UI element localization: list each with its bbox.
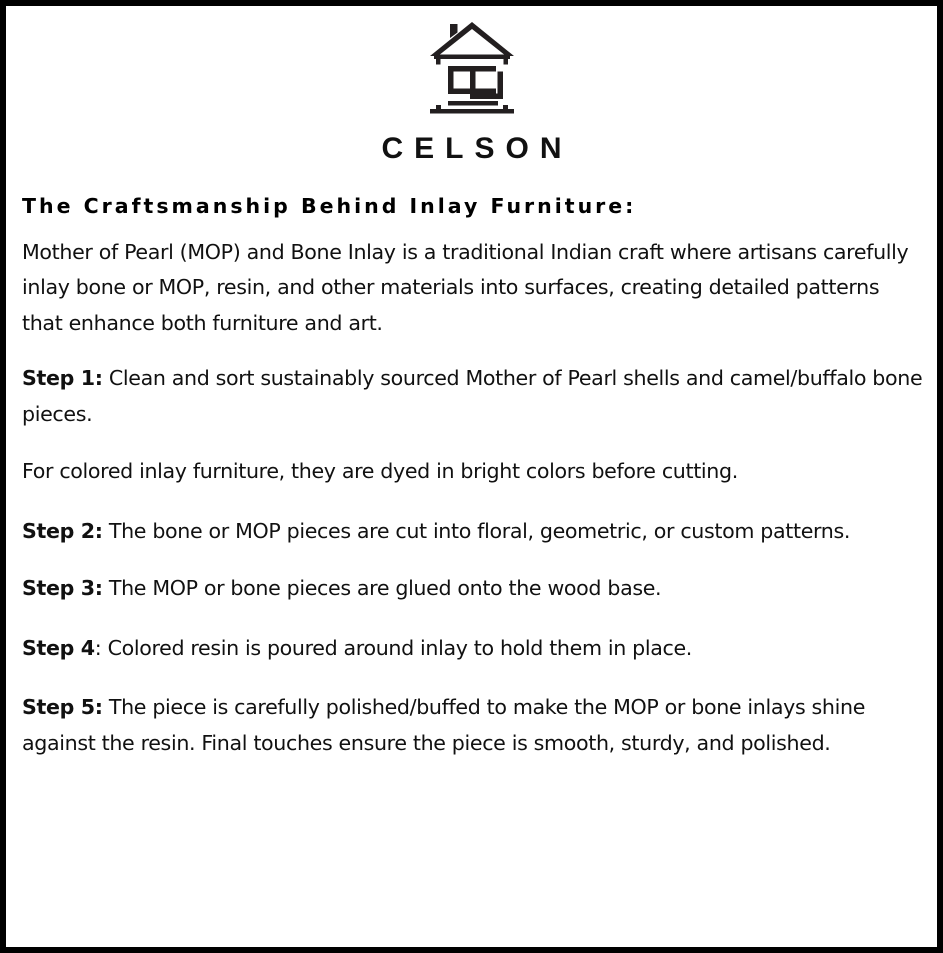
step-1-label: Step 1: (22, 366, 103, 390)
page-title: The Craftsmanship Behind Inlay Furniture… (22, 194, 927, 219)
step-2-label: Step 2: (22, 519, 103, 543)
paragraph-step-2: Step 2: The bone or MOP pieces are cut i… (22, 514, 925, 550)
step-3-label: Step 3: (22, 576, 103, 600)
step-5-text: The piece is carefully polished/buffed t… (22, 695, 865, 755)
step-4-text: : Colored resin is poured around inlay t… (95, 636, 692, 660)
paragraph-step-1: Step 1: Clean and sort sustainably sourc… (22, 361, 925, 432)
paragraph-step-3: Step 3: The MOP or bone pieces are glued… (22, 571, 925, 607)
step-3-text: The MOP or bone pieces are glued onto th… (103, 576, 662, 600)
poster-card: CELSON The Craftsmanship Behind Inlay Fu… (0, 0, 943, 953)
paragraph-intro: Mother of Pearl (MOP) and Bone Inlay is … (22, 235, 925, 342)
brand-wordmark: CELSON (16, 134, 927, 164)
paragraph-step-5: Step 5: The piece is carefully polished/… (22, 690, 925, 761)
article-body: Mother of Pearl (MOP) and Bone Inlay is … (22, 235, 925, 762)
step-5-label: Step 5: (22, 695, 103, 719)
house-monogram-logo-icon (426, 16, 518, 120)
paragraph-colored-note: For colored inlay furniture, they are dy… (22, 454, 925, 490)
step-4-label: Step 4 (22, 636, 95, 660)
brand-header: CELSON (16, 12, 927, 164)
step-2-text: The bone or MOP pieces are cut into flor… (103, 519, 850, 543)
paragraph-step-4: Step 4: Colored resin is poured around i… (22, 631, 925, 667)
step-1-text: Clean and sort sustainably sourced Mothe… (22, 366, 922, 426)
